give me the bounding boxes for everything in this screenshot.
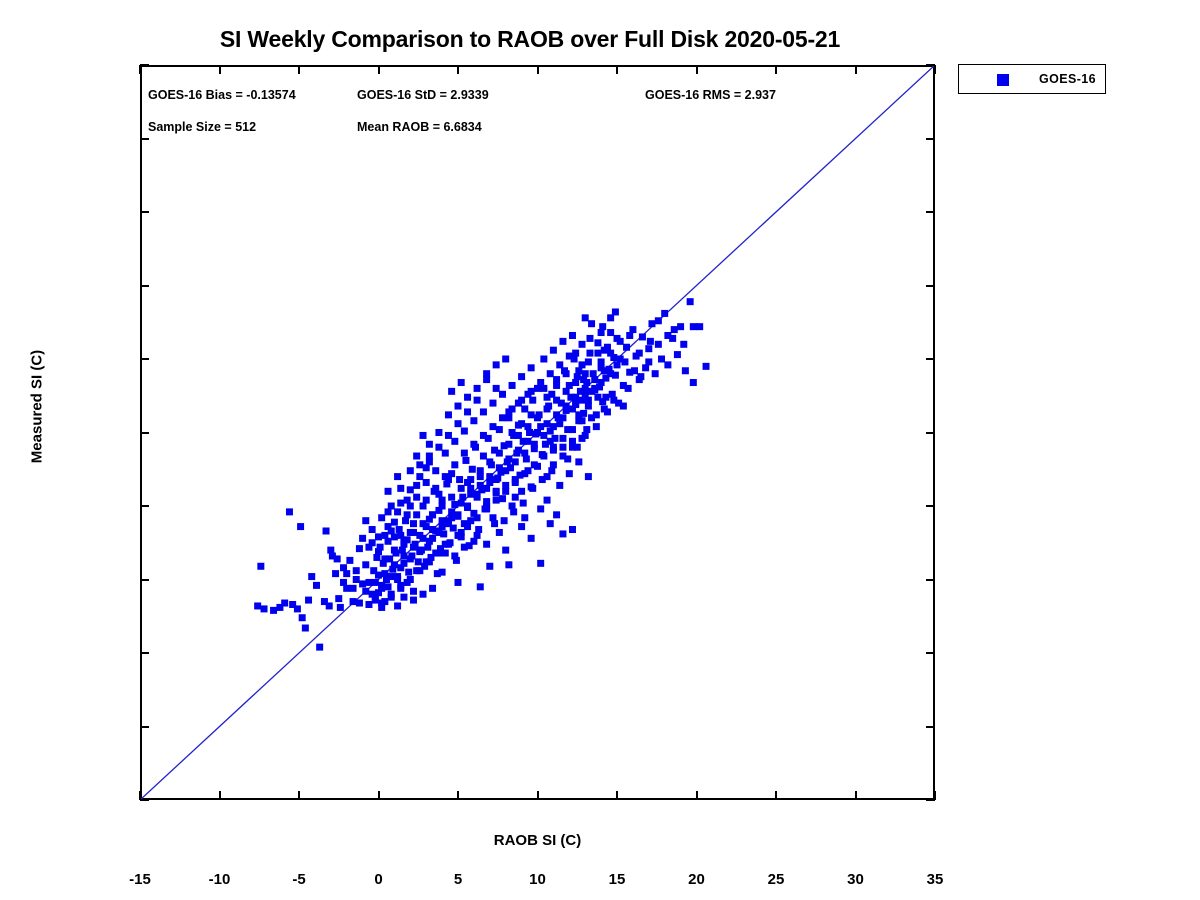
scatter-point: [416, 547, 423, 554]
scatter-point: [426, 453, 433, 460]
scatter-point: [480, 432, 487, 439]
scatter-point: [407, 503, 414, 510]
scatter-point: [585, 403, 592, 410]
legend-square-marker-icon: [997, 74, 1009, 86]
scatter-point: [420, 535, 427, 542]
y-axis-tick: [926, 432, 935, 434]
scatter-point: [362, 588, 369, 595]
scatter-point: [442, 450, 449, 457]
scatter-point: [534, 414, 541, 421]
x-axis-tick-label: 10: [529, 871, 546, 888]
scatter-point: [458, 500, 465, 507]
scatter-point: [563, 388, 570, 395]
y-axis-tick: [140, 358, 149, 360]
x-axis-label: RAOB SI (C): [140, 832, 935, 849]
x-axis-tick: [775, 65, 777, 74]
scatter-point: [550, 347, 557, 354]
scatter-point: [429, 526, 436, 533]
scatter-point: [270, 607, 277, 614]
scatter-point: [544, 394, 551, 401]
scatter-point: [456, 476, 463, 483]
x-axis-tick-label: 15: [609, 871, 626, 888]
scatter-point: [410, 588, 417, 595]
scatter-point: [550, 423, 557, 430]
scatter-point: [445, 476, 452, 483]
scatter-point: [407, 486, 414, 493]
scatter-point: [474, 397, 481, 404]
scatter-point: [563, 370, 570, 377]
scatter-point: [540, 356, 547, 363]
scatter-point: [594, 394, 601, 401]
scatter-point: [435, 529, 442, 536]
scatter-point: [588, 320, 595, 327]
scatter-point: [385, 583, 392, 590]
chart-root: SI Weekly Comparison to RAOB over Full D…: [0, 0, 1200, 900]
scatter-point: [534, 385, 541, 392]
scatter-point: [261, 605, 268, 612]
scatter-point: [448, 388, 455, 395]
scatter-point: [515, 447, 522, 454]
scatter-point: [445, 520, 452, 527]
scatter-point: [486, 563, 493, 570]
scatter-point: [332, 570, 339, 577]
scatter-point: [394, 602, 401, 609]
scatter-point: [445, 432, 452, 439]
scatter-point: [257, 563, 264, 570]
scatter-point: [308, 573, 315, 580]
scatter-point: [537, 505, 544, 512]
scatter-point: [464, 503, 471, 510]
scatter-point: [470, 441, 477, 448]
scatter-point: [493, 385, 500, 392]
scatter-point: [639, 333, 646, 340]
scatter-point: [388, 573, 395, 580]
scatter-point: [579, 341, 586, 348]
scatter-point: [524, 423, 531, 430]
scatter-point: [435, 550, 442, 557]
scatter-point: [458, 485, 465, 492]
scatter-point: [281, 600, 288, 607]
x-axis-tick: [219, 65, 221, 74]
scatter-point: [415, 558, 422, 565]
scatter-point: [583, 426, 590, 433]
scatter-point: [416, 473, 423, 480]
scatter-point: [455, 579, 462, 586]
scatter-point: [461, 428, 468, 435]
scatter-point: [569, 426, 576, 433]
scatter-point: [378, 600, 385, 607]
scatter-series-goes-16: [254, 298, 709, 650]
x-axis-tick: [855, 65, 857, 74]
scatter-point: [462, 457, 469, 464]
scatter-point: [461, 450, 468, 457]
scatter-point: [521, 405, 528, 412]
scatter-point: [439, 517, 446, 524]
scatter-point: [623, 344, 630, 351]
scatter-point: [559, 435, 566, 442]
scatter-point: [423, 464, 430, 471]
scatter-point: [496, 450, 503, 457]
scatter-point: [397, 564, 404, 571]
scatter-point: [413, 482, 420, 489]
x-axis-tick: [298, 791, 300, 800]
scatter-point: [353, 567, 360, 574]
y-axis-tick: [926, 211, 935, 213]
scatter-point: [451, 438, 458, 445]
scatter-point: [505, 408, 512, 415]
scatter-point: [499, 414, 506, 421]
scatter-point: [625, 385, 632, 392]
scatter-point: [378, 582, 385, 589]
scatter-point: [540, 432, 547, 439]
scatter-point: [477, 467, 484, 474]
x-axis-tick: [775, 791, 777, 800]
scatter-point: [375, 548, 382, 555]
scatter-point: [486, 473, 493, 480]
scatter-point: [477, 482, 484, 489]
scatter-point: [575, 367, 582, 374]
scatter-point: [458, 379, 465, 386]
scatter-point: [286, 508, 293, 515]
scatter-point: [569, 526, 576, 533]
scatter-point: [505, 561, 512, 568]
scatter-point: [426, 441, 433, 448]
x-axis-tick-label: 20: [688, 871, 705, 888]
scatter-point: [254, 602, 261, 609]
y-axis-tick: [140, 211, 149, 213]
scatter-point: [323, 527, 330, 534]
scatter-point: [470, 417, 477, 424]
scatter-point: [601, 405, 608, 412]
scatter-point: [505, 455, 512, 462]
scatter-point: [493, 488, 500, 495]
scatter-point: [607, 329, 614, 336]
legend-item-label: GOES-16: [1039, 72, 1096, 86]
y-axis-tick: [926, 579, 935, 581]
scatter-point: [626, 332, 633, 339]
scatter-point: [423, 479, 430, 486]
scatter-point: [391, 519, 398, 526]
x-axis-tick: [378, 791, 380, 800]
scatter-point: [544, 420, 551, 427]
scatter-point: [397, 500, 404, 507]
x-axis-tick: [139, 65, 141, 74]
scatter-point: [461, 544, 468, 551]
scatter-point: [524, 438, 531, 445]
scatter-point: [575, 458, 582, 465]
scatter-point: [385, 523, 392, 530]
scatter-point: [397, 585, 404, 592]
scatter-point: [400, 552, 407, 559]
scatter-point: [515, 400, 522, 407]
x-axis-tick: [378, 65, 380, 74]
scatter-point: [353, 576, 360, 583]
scatter-point: [381, 570, 388, 577]
scatter-point: [572, 350, 579, 357]
y-axis-tick: [140, 505, 149, 507]
scatter-point: [404, 511, 411, 518]
plot-area: -15-10-505101520253035-15-10-50510152025…: [140, 65, 935, 800]
y-axis-tick: [140, 64, 149, 66]
scatter-point: [326, 602, 333, 609]
scatter-point: [655, 317, 662, 324]
scatter-point: [426, 538, 433, 545]
scatter-point: [499, 391, 506, 398]
scatter-point: [305, 597, 312, 604]
scatter-point: [690, 323, 697, 330]
scatter-point: [480, 453, 487, 460]
scatter-point: [467, 491, 474, 498]
scatter-point: [496, 426, 503, 433]
scatter-point: [559, 414, 566, 421]
scatter-point: [491, 520, 498, 527]
scatter-point: [553, 397, 560, 404]
scatter-point: [501, 517, 508, 524]
scatter-point: [534, 429, 541, 436]
scatter-point: [385, 488, 392, 495]
scatter-point: [553, 382, 560, 389]
scatter-point: [648, 320, 655, 327]
scatter-point: [502, 356, 509, 363]
scatter-point: [518, 523, 525, 530]
scatter-point: [553, 511, 560, 518]
plot-canvas: [140, 65, 935, 800]
scatter-point: [299, 614, 306, 621]
scatter-point: [594, 339, 601, 346]
scatter-point: [350, 585, 357, 592]
scatter-point: [556, 361, 563, 368]
scatter-point: [547, 438, 554, 445]
scatter-point: [350, 598, 357, 605]
scatter-point: [566, 470, 573, 477]
scatter-point: [645, 345, 652, 352]
y-axis-tick: [926, 726, 935, 728]
scatter-point: [416, 567, 423, 574]
scatter-point: [537, 560, 544, 567]
scatter-point: [531, 441, 538, 448]
y-axis-tick: [140, 579, 149, 581]
scatter-point: [327, 547, 334, 554]
scatter-point: [474, 385, 481, 392]
scatter-point: [340, 579, 347, 586]
scatter-point: [435, 429, 442, 436]
legend: GOES-16: [958, 64, 1106, 94]
scatter-point: [593, 411, 600, 418]
scatter-point: [480, 408, 487, 415]
scatter-point: [586, 350, 593, 357]
scatter-point: [515, 432, 522, 439]
scatter-point: [563, 403, 570, 410]
scatter-point: [547, 370, 554, 377]
scatter-point: [445, 541, 452, 548]
scatter-point: [518, 373, 525, 380]
scatter-point: [636, 350, 643, 357]
scatter-point: [658, 356, 665, 363]
scatter-point: [455, 532, 462, 539]
scatter-point: [493, 497, 500, 504]
scatter-point: [620, 403, 627, 410]
scatter-point: [682, 367, 689, 374]
scatter-point: [405, 569, 412, 576]
scatter-point: [569, 332, 576, 339]
scatter-point: [547, 520, 554, 527]
scatter-point: [451, 501, 458, 508]
scatter-point: [413, 511, 420, 518]
scatter-point: [521, 514, 528, 521]
y-axis-tick: [926, 285, 935, 287]
scatter-point: [612, 308, 619, 315]
scatter-point: [559, 444, 566, 451]
scatter-point: [420, 520, 427, 527]
y-axis-tick: [140, 652, 149, 654]
scatter-point: [375, 572, 382, 579]
scatter-point: [496, 464, 503, 471]
scatter-point: [637, 373, 644, 380]
scatter-point: [579, 435, 586, 442]
x-axis-tick: [616, 791, 618, 800]
y-axis-tick: [140, 432, 149, 434]
scatter-point: [435, 444, 442, 451]
scatter-point: [413, 453, 420, 460]
scatter-point: [559, 530, 566, 537]
scatter-point: [448, 494, 455, 501]
scatter-point: [302, 625, 309, 632]
x-axis-tick-label: -10: [209, 871, 231, 888]
scatter-point: [407, 467, 414, 474]
scatter-point: [521, 450, 528, 457]
scatter-point: [598, 379, 605, 386]
scatter-point: [512, 494, 519, 501]
scatter-point: [617, 356, 624, 363]
scatter-point: [439, 503, 446, 510]
scatter-point: [528, 411, 535, 418]
scatter-point: [455, 511, 462, 518]
scatter-point: [451, 461, 458, 468]
scatter-point: [429, 511, 436, 518]
scatter-point: [493, 361, 500, 368]
scatter-point: [410, 529, 417, 536]
scatter-point: [407, 555, 414, 562]
scatter-point: [420, 591, 427, 598]
scatter-point: [631, 367, 638, 374]
scatter-point: [572, 400, 579, 407]
scatter-point: [391, 547, 398, 554]
x-axis-tick: [457, 791, 459, 800]
scatter-point: [397, 485, 404, 492]
y-axis-tick: [140, 138, 149, 140]
scatter-point: [502, 547, 509, 554]
scatter-point: [550, 461, 557, 468]
scatter-point: [520, 500, 527, 507]
scatter-point: [362, 517, 369, 524]
scatter-point: [375, 533, 382, 540]
scatter-point: [420, 432, 427, 439]
y-axis-tick: [926, 652, 935, 654]
scatter-point: [365, 544, 372, 551]
scatter-point: [671, 326, 678, 333]
scatter-point: [598, 364, 605, 371]
scatter-point: [677, 323, 684, 330]
scatter-point: [469, 466, 476, 473]
scatter-point: [394, 473, 401, 480]
page-title: SI Weekly Comparison to RAOB over Full D…: [0, 26, 1060, 53]
scatter-point: [496, 529, 503, 536]
scatter-point: [410, 544, 417, 551]
x-axis-tick-label: 30: [847, 871, 864, 888]
scatter-point: [572, 379, 579, 386]
scatter-point: [439, 569, 446, 576]
scatter-point: [690, 379, 697, 386]
scatter-point: [509, 429, 516, 436]
scatter-point: [486, 458, 493, 465]
scatter-point: [426, 558, 433, 565]
scatter-point: [346, 557, 353, 564]
scatter-point: [696, 323, 703, 330]
scatter-point: [372, 579, 379, 586]
scatter-point: [531, 461, 538, 468]
scatter-point: [655, 341, 662, 348]
scatter-point: [423, 497, 430, 504]
scatter-point: [416, 461, 423, 468]
scatter-point: [585, 473, 592, 480]
scatter-point: [378, 514, 385, 521]
scatter-point: [489, 423, 496, 430]
scatter-point: [381, 555, 388, 562]
scatter-point: [614, 335, 621, 342]
scatter-point: [582, 314, 589, 321]
scatter-point: [464, 523, 471, 530]
scatter-point: [664, 332, 671, 339]
scatter-point: [343, 570, 350, 577]
scatter-point: [448, 508, 455, 515]
scatter-point: [569, 444, 576, 451]
scatter-point: [337, 604, 344, 611]
scatter-point: [544, 497, 551, 504]
scatter-point: [359, 580, 366, 587]
scatter-point: [502, 488, 509, 495]
scatter-point: [703, 363, 710, 370]
scatter-point: [559, 338, 566, 345]
scatter-point: [474, 494, 481, 501]
scatter-point: [664, 361, 671, 368]
scatter-point: [505, 441, 512, 448]
scatter-point: [394, 508, 401, 515]
scatter-point: [652, 370, 659, 377]
x-axis-tick: [139, 791, 141, 800]
scatter-point: [680, 341, 687, 348]
scatter-point: [455, 403, 462, 410]
x-axis-tick: [934, 791, 936, 800]
scatter-point: [509, 382, 516, 389]
scatter-point: [397, 532, 404, 539]
x-axis-tick-label: 25: [768, 871, 785, 888]
scatter-point: [594, 350, 601, 357]
scatter-point: [365, 601, 372, 608]
scatter-point: [510, 508, 517, 515]
scatter-point: [483, 541, 490, 548]
scatter-point: [585, 358, 592, 365]
scatter-point: [540, 453, 547, 460]
y-axis-tick: [926, 138, 935, 140]
scatter-point: [512, 458, 519, 465]
scatter-point: [435, 491, 442, 498]
x-axis-tick: [457, 65, 459, 74]
scatter-point: [455, 420, 462, 427]
scatter-point: [362, 561, 369, 568]
scatter-point: [493, 476, 500, 483]
scatter-point: [432, 467, 439, 474]
scatter-point: [528, 364, 535, 371]
